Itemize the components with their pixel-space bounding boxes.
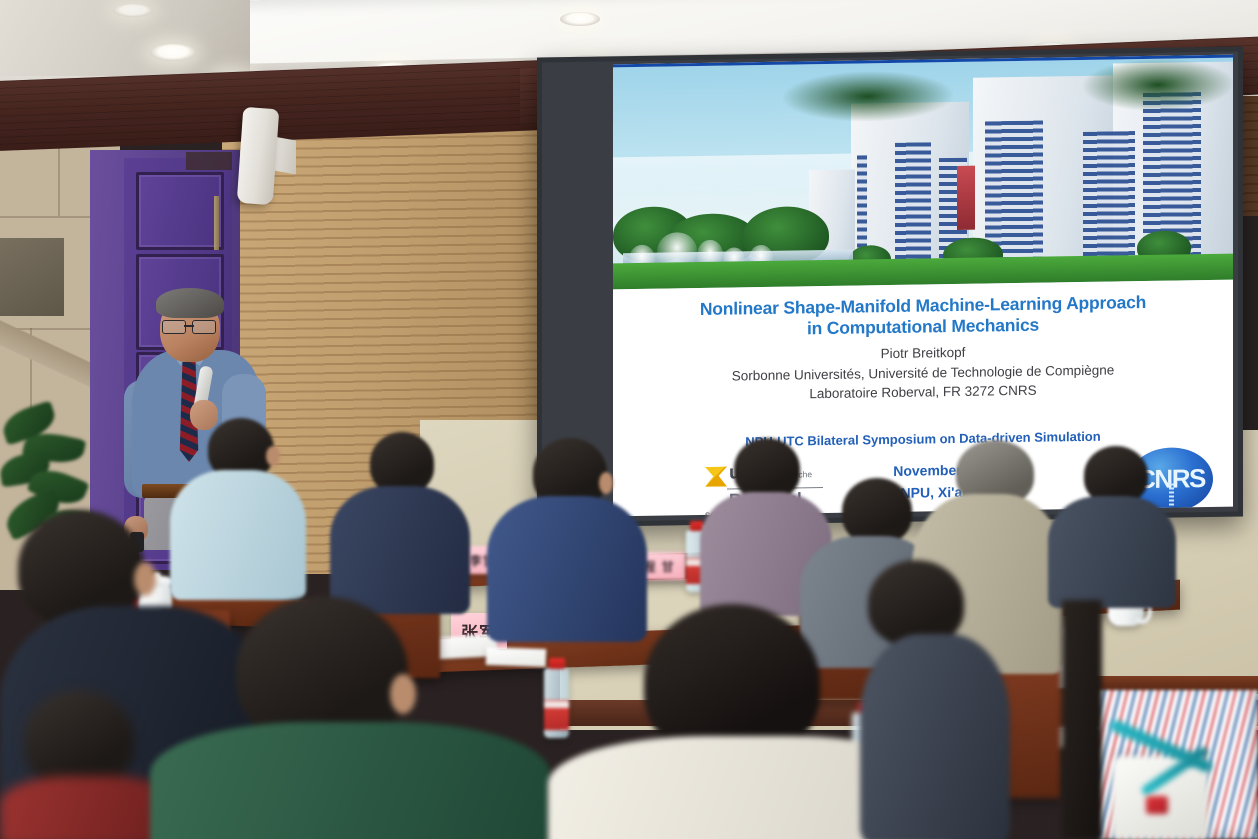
window-band — [895, 142, 931, 263]
window-band — [985, 121, 1043, 262]
attendee-head — [842, 478, 912, 544]
presenter-hair — [156, 288, 224, 318]
foreground-branch — [1083, 58, 1233, 112]
ear — [390, 674, 416, 714]
conference-photo-scene: Nonlinear Shape-Manifold Machine-Learnin… — [0, 0, 1258, 839]
downlight-icon — [113, 4, 153, 17]
downlight-icon — [560, 12, 600, 26]
bag-red-detail — [1146, 796, 1168, 814]
ear — [266, 446, 280, 466]
ear — [134, 562, 156, 596]
attendee-head — [24, 690, 134, 788]
attendee-head — [734, 438, 800, 500]
window-band — [857, 155, 867, 259]
attendee-foreground-right — [860, 560, 1010, 839]
door-hinge — [214, 196, 219, 250]
glasses-icon — [162, 320, 218, 332]
attendee-torso — [860, 634, 1010, 839]
downlight-icon — [150, 44, 196, 61]
attendee-torso — [1048, 496, 1176, 608]
door-panel — [136, 172, 224, 250]
door-header-shadow — [186, 152, 232, 170]
attendee-torso — [150, 722, 550, 839]
attendee-green-sweater — [150, 596, 550, 839]
billboard — [957, 166, 975, 230]
ear — [599, 472, 613, 494]
attendee-head — [370, 432, 434, 494]
campus-photo — [613, 55, 1233, 290]
window-band — [1083, 131, 1135, 262]
wall-loudspeaker — [237, 107, 280, 205]
door-post-right — [1062, 600, 1102, 839]
foreground-branch — [783, 70, 953, 123]
attendee-navy-suit — [330, 432, 470, 612]
slide-title: Nonlinear Shape-Manifold Machine-Learnin… — [613, 291, 1233, 343]
attendee-dark-suit-right — [1048, 446, 1176, 606]
slide-author-block: Piotr Breitkopf Sorbonne Universités, Un… — [613, 339, 1233, 407]
attendee-torso — [330, 486, 470, 614]
